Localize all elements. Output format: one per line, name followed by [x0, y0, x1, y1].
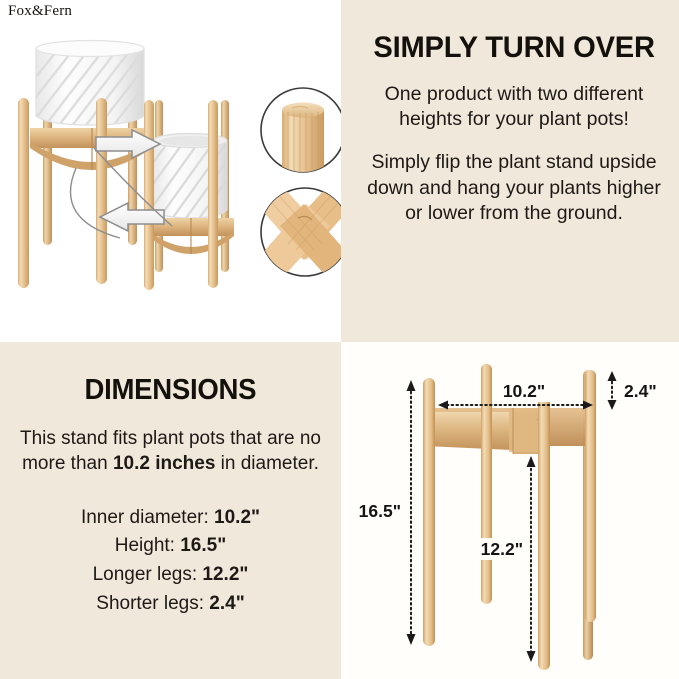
- dimension-diagram: 10.2" 2.4" 16.5" 12.2": [341, 342, 679, 679]
- spec-list: Inner diameter: 10.2" Height: 16.5" Long…: [11, 504, 331, 620]
- measure-label-10-2: 10.2": [503, 381, 545, 401]
- spec-value: 2.4": [209, 593, 244, 614]
- inset-leg-end: [261, 88, 341, 172]
- spec-value: 16.5": [180, 535, 226, 556]
- spec-row: Shorter legs: 2.4": [11, 590, 331, 619]
- measure-label-16-5: 16.5": [359, 501, 401, 521]
- brand-logo: Fox&Fern: [8, 3, 72, 20]
- turn-over-paragraph-2: Simply flip the plant stand upside down …: [366, 150, 662, 227]
- turn-over-paragraph-1: One product with two different heights f…: [366, 82, 662, 133]
- spec-row: Longer legs: 12.2": [11, 561, 331, 590]
- spec-label: Height:: [115, 535, 180, 556]
- measure-shorter-leg: 2.4": [608, 371, 657, 410]
- infographic-canvas: Fox&Fern SIMPLY TURN OVER One product wi…: [0, 0, 679, 679]
- spec-value: 12.2": [202, 564, 248, 585]
- measure-inner-diameter: 10.2": [438, 380, 593, 410]
- spec-row: Inner diameter: 10.2": [11, 504, 331, 533]
- turn-over-content: SIMPLY TURN OVER One product with two di…: [349, 0, 679, 342]
- page-title: SIMPLY TURN OVER: [373, 32, 654, 64]
- measure-label-2-4: 2.4": [624, 381, 657, 401]
- inset-cross-joint: [258, 186, 341, 278]
- intro-text-bold: 10.2 inches: [113, 453, 215, 474]
- spec-value: 10.2": [214, 507, 260, 528]
- spec-label: Inner diameter:: [81, 507, 214, 528]
- measure-total-height: 16.5": [359, 380, 416, 645]
- dimensions-title: DIMENSIONS: [85, 374, 257, 407]
- spec-label: Shorter legs:: [96, 593, 209, 614]
- spec-row: Height: 16.5": [11, 532, 331, 561]
- dimensions-content: DIMENSIONS This stand fits plant pots th…: [0, 342, 341, 679]
- dimensions-intro: This stand fits plant pots that are no m…: [15, 426, 327, 477]
- measure-label-12-2: 12.2": [481, 539, 523, 559]
- product-photo: [0, 0, 341, 342]
- spec-label: Longer legs:: [93, 564, 203, 585]
- intro-text-after: in diameter.: [215, 453, 319, 474]
